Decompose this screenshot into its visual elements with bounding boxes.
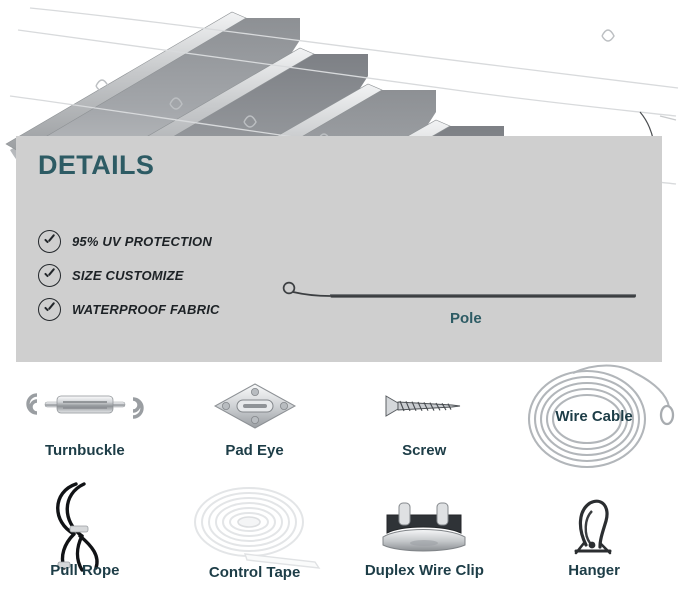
feature-label: 95% UV PROTECTION <box>72 234 212 249</box>
accessory-control-tape: Control Tape <box>170 490 340 610</box>
infographic-root: DETAILS 95% UV PROTECTION SIZE CUSTOMIZE… <box>0 0 679 611</box>
check-circle-icon <box>38 264 61 287</box>
pull-rope-icon <box>0 490 170 562</box>
control-tape-roll-icon <box>170 490 340 562</box>
accessory-label: Turnbuckle <box>45 442 125 459</box>
accessory-label: Pull Rope <box>50 562 119 579</box>
wire-cable-coil-icon <box>509 370 679 442</box>
feature-label: SIZE CUSTOMIZE <box>72 268 184 283</box>
pad-eye-icon <box>170 370 340 442</box>
accessory-label: Pad Eye <box>225 442 283 459</box>
check-circle-icon <box>38 298 61 321</box>
pole-rod-icon <box>280 276 640 306</box>
pole-label: Pole <box>450 310 482 327</box>
pole-illustration: Pole <box>280 276 640 336</box>
accessory-pull-rope: Pull Rope <box>0 490 170 610</box>
duplex-wire-clip-icon <box>340 490 510 562</box>
accessory-duplex-wire-clip: Duplex Wire Clip <box>340 490 510 610</box>
details-panel: DETAILS 95% UV PROTECTION SIZE CUSTOMIZE… <box>16 136 662 362</box>
feature-item: 95% UV PROTECTION <box>38 226 338 256</box>
accessory-turnbuckle: Turnbuckle <box>0 370 170 490</box>
accessory-label: Wire Cable <box>555 408 632 425</box>
accessories-row: Turnbuckle <box>0 370 679 490</box>
accessories-row: Pull Rope <box>0 490 679 610</box>
feature-label: WATERPROOF FABRIC <box>72 302 220 317</box>
accessory-pad-eye: Pad Eye <box>170 370 340 490</box>
screw-icon <box>339 370 509 442</box>
accessory-label: Screw <box>402 442 446 459</box>
accessory-label: Hanger <box>568 562 620 579</box>
accessory-wire-cable: Wire Cable <box>509 370 679 490</box>
turnbuckle-icon <box>0 370 170 442</box>
hanger-clip-icon <box>509 490 679 562</box>
accessory-label: Duplex Wire Clip <box>365 562 484 579</box>
check-circle-icon <box>38 230 61 253</box>
accessory-screw: Screw <box>339 370 509 490</box>
details-title: DETAILS <box>38 150 154 181</box>
accessories-grid: Turnbuckle <box>0 370 679 611</box>
accessory-label: Control Tape <box>209 564 300 581</box>
accessory-hanger: Hanger <box>509 490 679 610</box>
